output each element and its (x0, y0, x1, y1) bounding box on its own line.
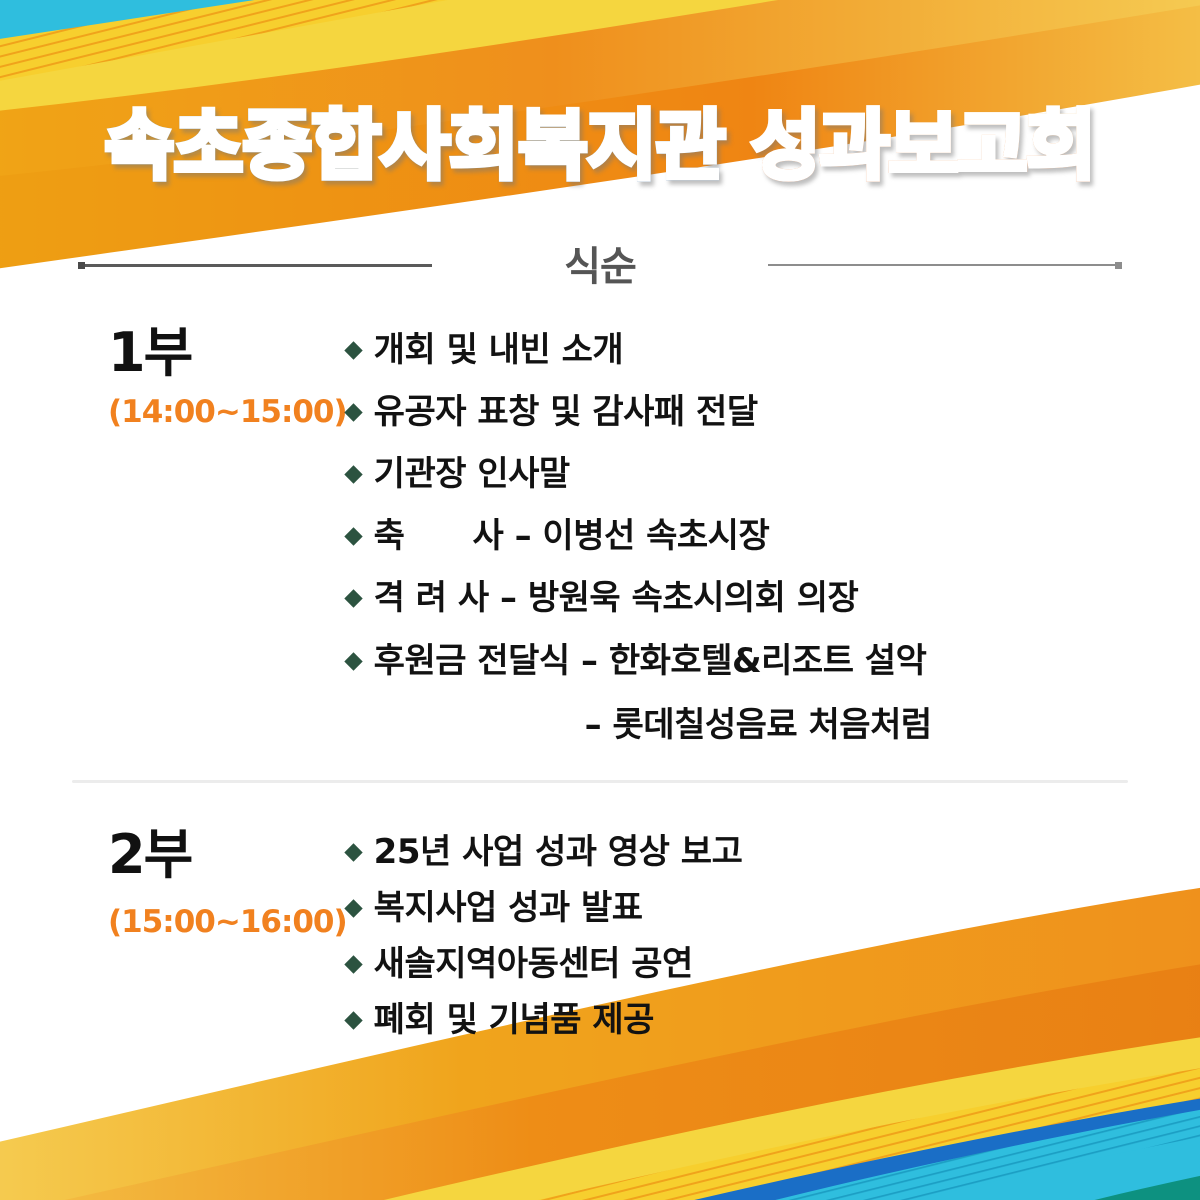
part-1-items: 개회 및 내빈 소개 유공자 표창 및 감사패 전달 기관장 인사말 축 사 –… (347, 326, 1200, 756)
list-item-text: 기관장 인사말 (374, 454, 570, 494)
list-item: 개회 및 내빈 소개 (347, 330, 1200, 370)
list-item-text: 복지사업 성과 발표 (374, 888, 643, 928)
list-item-text: 개회 및 내빈 소개 (374, 330, 623, 370)
program-part-1: 1부 (14:00~15:00) 개회 및 내빈 소개 유공자 표창 및 감사패… (0, 326, 1200, 756)
diamond-bullet-icon (344, 843, 362, 861)
list-subitem-text: – 롯데칠성음료 처음처럼 (585, 697, 1200, 746)
list-item: 축 사 – 이병선 속초시장 (347, 516, 1200, 556)
diamond-bullet-icon (344, 956, 362, 974)
part-1-label: 1부 (14:00~15:00) (0, 326, 347, 756)
list-item-text: 후원금 전달식 – 한화호텔&리조트 설악 (374, 641, 927, 681)
part-1-name: 1부 (108, 326, 347, 380)
diamond-bullet-icon (344, 1012, 362, 1030)
program-part-2: 2부 (15:00~16:00) 25년 사업 성과 영상 보고 복지사업 성과… (0, 828, 1200, 1056)
list-item: 후원금 전달식 – 한화호텔&리조트 설악 (347, 641, 1200, 681)
part-2-name: 2부 (108, 828, 347, 882)
part-1-time: (14:00~15:00) (108, 394, 347, 430)
part-2-time: (15:00~16:00) (108, 904, 347, 940)
list-item-text: 유공자 표창 및 감사패 전달 (374, 392, 758, 432)
list-item: 새솔지역아동센터 공연 (347, 944, 1200, 984)
list-item: 유공자 표창 및 감사패 전달 (347, 392, 1200, 432)
diamond-bullet-icon (344, 899, 362, 917)
poster-title: 속초종합사회복지관성과보고회 (0, 108, 1200, 184)
heading-rule-left (78, 264, 432, 267)
list-item: 25년 사업 성과 영상 보고 (347, 832, 1200, 872)
diamond-bullet-icon (344, 652, 362, 670)
list-item-text: 폐회 및 기념품 제공 (374, 1000, 654, 1040)
diamond-bullet-icon (344, 341, 362, 359)
part-2-label: 2부 (15:00~16:00) (0, 828, 347, 1056)
list-item: 격 려 사 – 방원욱 속초시의회 의장 (347, 578, 1200, 618)
section-divider (72, 780, 1128, 783)
list-item-text: 축 사 – 이병선 속초시장 (374, 516, 770, 556)
list-item-text: 새솔지역아동센터 공연 (374, 944, 693, 984)
event-program-poster: 속초종합사회복지관성과보고회 식순 1부 (14:00~15:00) 개회 및 … (0, 0, 1200, 1200)
list-item-text: 격 려 사 – 방원욱 속초시의회 의장 (374, 578, 859, 618)
section-heading-label: 식순 (432, 234, 768, 292)
heading-rule-right (768, 264, 1122, 266)
list-item: 폐회 및 기념품 제공 (347, 1000, 1200, 1040)
list-item: 복지사업 성과 발표 (347, 888, 1200, 928)
diamond-bullet-icon (344, 466, 362, 484)
part-2-items: 25년 사업 성과 영상 보고 복지사업 성과 발표 새솔지역아동센터 공연 폐… (347, 828, 1200, 1056)
list-item: 기관장 인사말 (347, 454, 1200, 494)
list-item-text: 25년 사업 성과 영상 보고 (374, 832, 743, 872)
diamond-bullet-icon (344, 403, 362, 421)
diamond-bullet-icon (344, 590, 362, 608)
section-heading-row: 식순 (78, 236, 1122, 294)
diamond-bullet-icon (344, 528, 362, 546)
poster-title-event: 성과보고회 (751, 108, 1096, 184)
poster-title-organization: 속초종합사회복지관 (105, 108, 725, 184)
